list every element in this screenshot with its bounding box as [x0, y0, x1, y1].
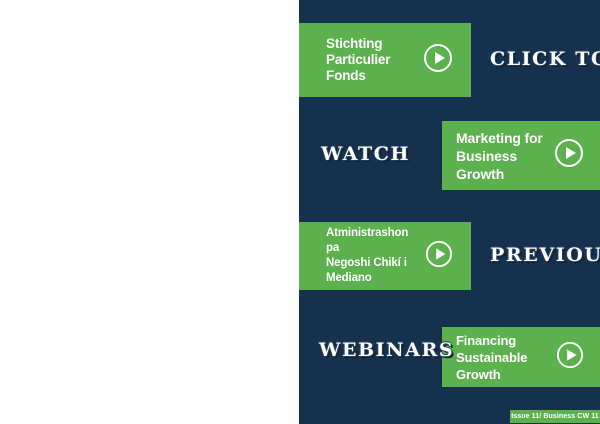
video-card-title: Marketing for Business Growth	[442, 129, 554, 183]
play-icon[interactable]	[554, 138, 584, 173]
play-icon[interactable]	[425, 240, 453, 273]
play-icon[interactable]	[556, 341, 584, 374]
page-root: Stichting Particulier Fonds Marketing fo…	[0, 0, 600, 424]
video-card-marketing-for-business-growth[interactable]: Marketing for Business Growth	[442, 121, 600, 190]
issue-badge: Issue 11/ Business CW 11	[510, 410, 600, 423]
video-card-title: Stichting Particulier Fonds	[299, 36, 394, 84]
headline-previous: PREVIOUS	[490, 244, 600, 266]
video-card-stichting-particulier-fonds[interactable]: Stichting Particulier Fonds	[299, 23, 471, 97]
video-card-title: Atministrashon pa Negoshi Chikí i Median…	[299, 226, 425, 286]
video-card-atministrashon-pa-negoshi-chiki-i-mediano[interactable]: Atministrashon pa Negoshi Chikí i Median…	[299, 222, 471, 290]
video-card-title: Financing Sustainable Growth	[442, 332, 556, 383]
video-card-financing-sustainable-growth[interactable]: Financing Sustainable Growth	[442, 327, 600, 387]
headline-watch: WATCH	[321, 143, 410, 165]
issue-badge-label: Issue 11/ Business CW 11	[511, 413, 599, 420]
headline-webinars: WEBINARS	[319, 339, 454, 361]
headline-click-to: CLICK TO	[490, 48, 600, 70]
play-icon[interactable]	[423, 43, 453, 78]
left-white-page	[0, 0, 299, 424]
